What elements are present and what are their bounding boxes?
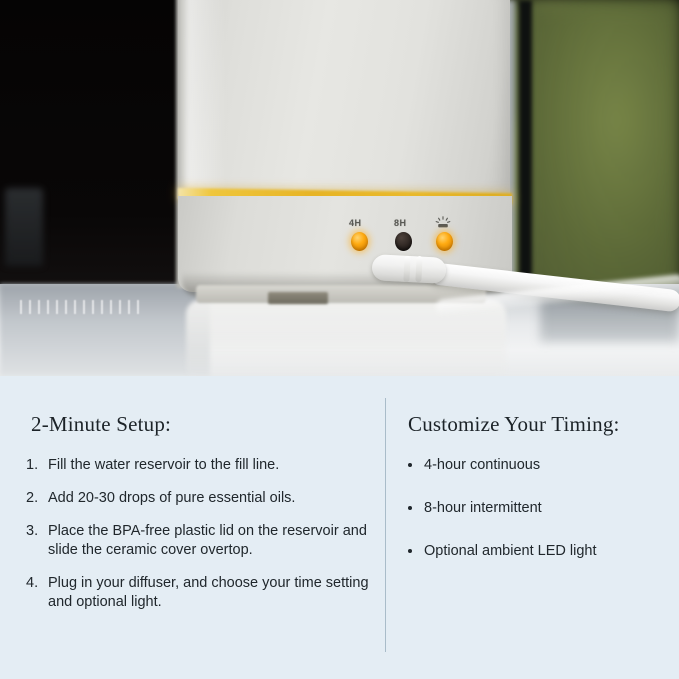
- step-text: Fill the water reservoir to the fill lin…: [48, 457, 279, 473]
- list-item: Optional ambient LED light: [404, 542, 674, 561]
- timing-heading: Customize Your Timing:: [408, 412, 620, 437]
- background-object: [5, 188, 43, 266]
- timing-options-list: 4-hour continuous 8-hour intermittent Op…: [404, 456, 674, 585]
- list-item: 4. Plug in your diffuser, and choose you…: [48, 574, 388, 612]
- step-text: Place the BPA-free plastic lid on the re…: [48, 523, 367, 558]
- diffuser-base-vent: [268, 292, 328, 304]
- step-number: 4.: [26, 574, 46, 593]
- countertop-speckles: [20, 300, 140, 314]
- instructions-panel: 2-Minute Setup: 1. Fill the water reserv…: [0, 376, 679, 679]
- bullet-text: 4-hour continuous: [424, 457, 540, 473]
- diffuser-body-highlight: [186, 0, 226, 194]
- step-text: Add 20-30 drops of pure essential oils.: [48, 490, 295, 506]
- countertop-left-area: [0, 284, 210, 376]
- diffuser-upper-body: [178, 0, 510, 194]
- product-photo: 4H 8H: [0, 0, 679, 376]
- step-text: Plug in your diffuser, and choose your t…: [48, 575, 369, 610]
- led-light-button[interactable]: [436, 232, 453, 251]
- bullet-text: Optional ambient LED light: [424, 543, 597, 559]
- setup-steps-list: 1. Fill the water reservoir to the fill …: [26, 456, 388, 626]
- timer-4h-button[interactable]: [351, 232, 368, 251]
- product-infographic: 4H 8H: [0, 0, 679, 679]
- step-number: 2.: [26, 489, 46, 508]
- list-item: 2. Add 20-30 drops of pure essential oil…: [48, 489, 388, 508]
- list-item: 1. Fill the water reservoir to the fill …: [48, 456, 388, 475]
- bullet-dot-icon: [408, 506, 412, 510]
- list-item: 3. Place the BPA-free plastic lid on the…: [48, 522, 388, 560]
- list-item: 8-hour intermittent: [404, 499, 674, 518]
- timer-8h-label: 8H: [394, 218, 407, 228]
- setup-heading: 2-Minute Setup:: [31, 412, 171, 437]
- window-frame-dark: [519, 0, 532, 300]
- step-number: 3.: [26, 522, 46, 541]
- bullet-dot-icon: [408, 549, 412, 553]
- step-number: 1.: [26, 456, 46, 475]
- timer-8h-button[interactable]: [395, 232, 412, 251]
- bullet-text: 8-hour intermittent: [424, 500, 542, 516]
- timer-4h-label: 4H: [349, 218, 362, 228]
- list-item: 4-hour continuous: [404, 456, 674, 475]
- bullet-dot-icon: [408, 463, 412, 467]
- window-greenery-blur: [520, 0, 679, 300]
- light-icon: [432, 216, 454, 230]
